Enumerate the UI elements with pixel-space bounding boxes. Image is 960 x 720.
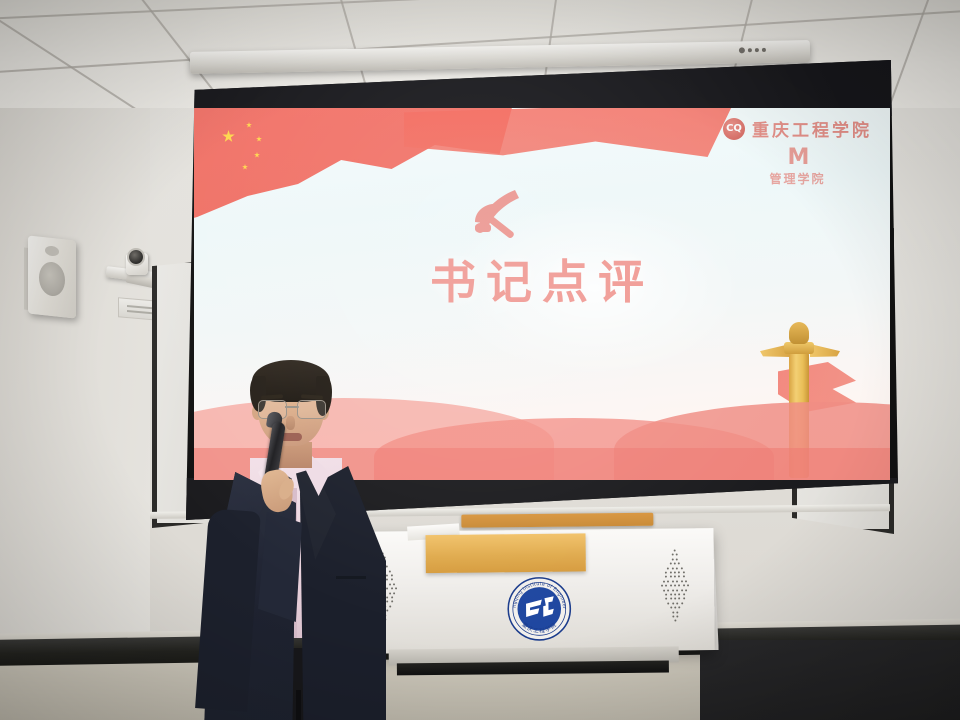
college-mark-icon: M [723, 145, 872, 170]
presenter-trouser-seam [296, 690, 301, 720]
huabiao-finial [789, 322, 809, 344]
university-seal-icon: CQ [723, 118, 745, 140]
roller-control-label [739, 47, 766, 54]
slide-brand-block: CQ 重庆工程学院 M 管理学院 [723, 116, 872, 187]
podium-top-trim [461, 513, 653, 528]
presenter-nose [286, 416, 295, 430]
camera-lens [129, 250, 143, 264]
speaker-cone [39, 261, 65, 298]
university-row: CQ 重庆工程学院 [723, 116, 872, 141]
college-name: 管理学院 [723, 170, 872, 187]
presenter-jacket-pocket [336, 576, 366, 579]
podium-university-emblem-icon: Chongqing Institute of Engineering 重庆工程学… [506, 576, 573, 643]
podium: Chongqing Institute of Engineering 重庆工程学… [343, 506, 715, 660]
university-name: 重庆工程学院 [752, 116, 872, 141]
floor-right-dark-area [700, 640, 960, 720]
presenter [196, 360, 396, 720]
podium-front-trim [425, 533, 585, 573]
podium-speaker-grille-right [658, 548, 693, 624]
cpc-party-emblem-icon [469, 182, 529, 248]
photo-scene: CQ 重庆工程学院 M 管理学院 书记点评 [0, 0, 960, 720]
red-flag-graphic-secondary [404, 108, 734, 188]
huabiao-wing-right [810, 344, 840, 357]
speaker-tweeter [45, 245, 59, 256]
left-wall [0, 60, 150, 720]
slide-title: 书记点评 [194, 246, 890, 312]
lens-right [297, 400, 326, 419]
wall-speaker-icon [28, 235, 76, 318]
